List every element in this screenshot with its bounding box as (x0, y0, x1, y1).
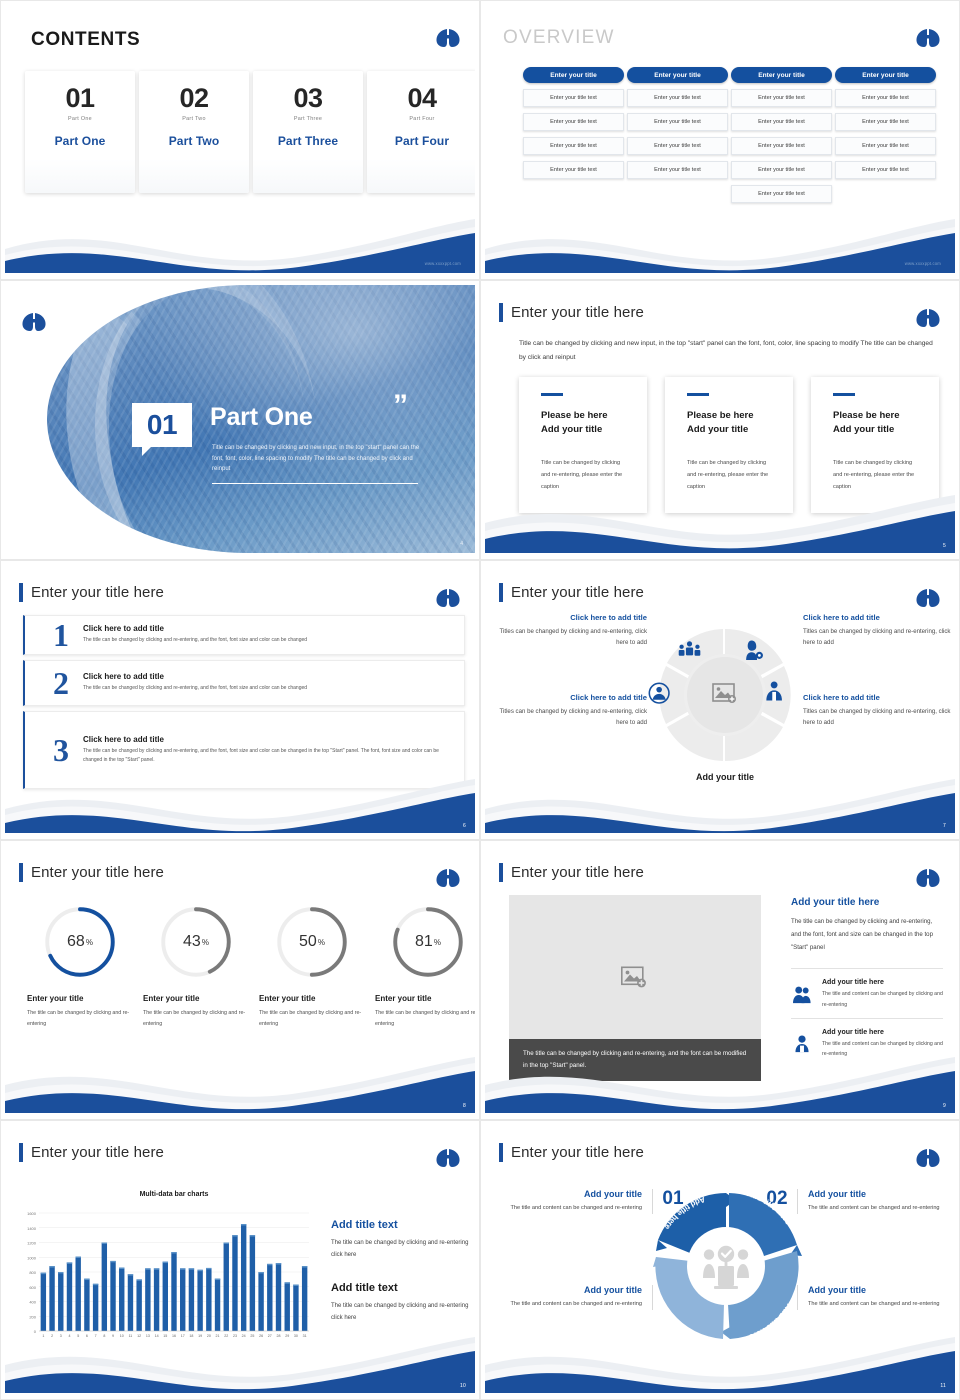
svg-text:31: 31 (303, 1334, 307, 1338)
brand-logo-icon (435, 1147, 461, 1169)
page-number: 9 (943, 1103, 946, 1109)
card-subtitle: Part Three (253, 116, 363, 122)
card-number: 04 (367, 85, 475, 112)
brand-logo-icon (915, 867, 941, 889)
card-number: 03 (253, 85, 363, 112)
page-number: 6 (463, 823, 466, 829)
column-header-pill[interactable]: Enter your title (627, 67, 728, 83)
page-number: 7 (943, 823, 946, 829)
donut-value: 81 (415, 933, 433, 951)
block-heading: Click here to add title (497, 693, 647, 702)
contents-card[interactable]: 02 Part Two Part Two (139, 71, 249, 193)
donut-stat[interactable]: 50% Enter your title The title can be ch… (259, 903, 365, 1029)
item-body: The title and content can be changed by … (822, 1039, 943, 1059)
list-item[interactable]: Add your title here The title and conten… (791, 1019, 943, 1067)
card-accent-bar (687, 393, 709, 396)
block-body: Titles can be changed by clicking and re… (803, 626, 953, 649)
donut-heading: Enter your title (143, 994, 249, 1003)
svg-text:16: 16 (172, 1334, 176, 1338)
slide-section-part-one: 01 Part One ” Title can be changed by cl… (0, 280, 480, 560)
block-body: Titles can be changed by clicking and re… (497, 706, 647, 729)
item-heading: Add your title here (822, 979, 943, 986)
svg-text:25: 25 (250, 1334, 254, 1338)
block-body: The title and content can be changed and… (507, 1203, 642, 1214)
side-body: The title can be changed by clicking and… (791, 916, 943, 954)
donut-unit: % (86, 938, 93, 947)
overview-cell[interactable]: Enter your title text (731, 113, 832, 131)
page-title: Enter your title here (31, 864, 164, 881)
svg-text:7: 7 (95, 1334, 97, 1338)
brand-logo-icon (435, 867, 461, 889)
page-number: 5 (943, 543, 946, 549)
page-title: Enter your title here (31, 1144, 164, 1161)
svg-text:800: 800 (29, 1270, 36, 1275)
item-body: The title can be changed by clicking and… (83, 747, 454, 766)
brand-logo-icon (435, 27, 461, 49)
item-heading: Click here to add title (83, 672, 454, 681)
side-content: Add your title here The title can be cha… (791, 897, 943, 1067)
section-body-text: Title can be changed by clicking and new… (212, 443, 420, 475)
list-item[interactable]: Add your title here The title and conten… (791, 969, 943, 1018)
svg-text:13: 13 (146, 1334, 150, 1338)
svg-text:400: 400 (29, 1300, 36, 1305)
svg-text:1600: 1600 (27, 1211, 37, 1216)
svg-text:29: 29 (285, 1334, 289, 1338)
block-body: The title and content can be changed and… (507, 1299, 642, 1310)
card-number: 01 (25, 85, 135, 112)
item-number: 3 (39, 734, 83, 766)
overview-cell[interactable]: Enter your title text (731, 137, 832, 155)
svg-text:17: 17 (181, 1334, 185, 1338)
item-body: The title can be changed by clicking and… (83, 636, 454, 646)
overview-column: Enter your title Enter your title text E… (835, 67, 936, 203)
overview-cell[interactable]: Enter your title text (627, 113, 728, 131)
overview-cell[interactable]: Enter your title text (731, 161, 832, 179)
contents-card-list: 01 Part One Part One 02 Part Two Part Tw… (25, 71, 475, 193)
svg-text:8: 8 (103, 1334, 105, 1338)
svg-text:20: 20 (207, 1334, 211, 1338)
brand-logo-icon (915, 587, 941, 609)
block-heading: Click here to add title (803, 693, 953, 702)
overview-cell[interactable]: Enter your title text (731, 185, 832, 203)
card-label: Part Two (139, 134, 249, 148)
slide-contents: CONTENTS 01 Part One Part One 02 Part Tw… (0, 0, 480, 280)
card-label: Part Three (253, 134, 363, 148)
block-heading: Add your title (808, 1285, 943, 1295)
title-accent-bar (499, 303, 503, 322)
donut-value: 43 (183, 933, 201, 951)
slide-donut-stats: Enter your title here 68% Enter your tit… (0, 840, 480, 1120)
brand-logo-icon (21, 311, 47, 333)
segmented-ring (640, 615, 810, 775)
overview-cell[interactable]: Enter your title text (835, 137, 936, 155)
svg-text:22: 22 (224, 1334, 228, 1338)
svg-text:1000: 1000 (27, 1255, 37, 1260)
page-title-bar: Enter your title here (499, 583, 644, 602)
svg-text:9: 9 (112, 1334, 114, 1338)
title-accent-bar (499, 1143, 503, 1162)
footer-watermark: www.xxxxppt.com (905, 261, 941, 266)
brand-logo-icon (915, 307, 941, 329)
card-number: 02 (139, 85, 249, 112)
content-card[interactable]: Please be here Add your title Title can … (519, 377, 647, 513)
block-body: Titles can be changed by clicking and re… (497, 626, 647, 649)
svg-text:23: 23 (233, 1334, 237, 1338)
block-body: The title and content can be changed and… (808, 1203, 943, 1214)
item-heading: Click here to add title (83, 624, 454, 633)
title-accent-bar (19, 863, 23, 882)
column-header-pill[interactable]: Enter your title (523, 67, 624, 83)
svg-text:27: 27 (268, 1334, 272, 1338)
note-body: The title can be changed by clicking and… (331, 1237, 471, 1262)
page-title: Enter your title here (511, 864, 644, 881)
contents-card[interactable]: 04 Part Four Part Four (367, 71, 475, 193)
card-subtitle: Part Two (139, 116, 249, 122)
overview-cell[interactable]: Enter your title text (835, 161, 936, 179)
svg-text:1400: 1400 (27, 1226, 37, 1231)
lead-paragraph: Title can be changed by clicking and new… (519, 337, 937, 365)
chart-side-notes: Add title text The title can be changed … (331, 1219, 471, 1324)
image-placeholder[interactable]: The title can be changed by clicking and… (509, 895, 761, 1081)
list-item[interactable]: 1 Click here to add title The title can … (23, 615, 465, 655)
svg-text:30: 30 (294, 1334, 298, 1338)
card-body: Title can be changed by clicking and re-… (687, 458, 771, 493)
donut-body: The title can be changed by clicking and… (375, 1008, 475, 1029)
svg-text:2: 2 (51, 1334, 53, 1338)
donut-stat[interactable]: 68% Enter your title The title can be ch… (27, 903, 133, 1029)
brand-logo-icon (915, 27, 941, 49)
slide-bar-chart: Enter your title here Multi-data bar cha… (0, 1120, 480, 1400)
note-heading: Add title text (331, 1282, 471, 1294)
overview-column: Enter your title Enter your title text E… (523, 67, 624, 203)
page-title-bar: Enter your title here (19, 583, 164, 602)
donut-ring: 81% (389, 903, 467, 981)
svg-text:1: 1 (42, 1334, 44, 1338)
donut-stat[interactable]: 43% Enter your title The title can be ch… (143, 903, 249, 1029)
slide-numbered-list: Enter your title here 1 Click here to ad… (0, 560, 480, 840)
card-heading: Please be here Add your title (833, 409, 917, 438)
overview-cell[interactable]: Enter your title text (835, 113, 936, 131)
donut-body: The title can be changed by clicking and… (143, 1008, 249, 1029)
page-title: Enter your title here (31, 584, 164, 601)
column-header-pill[interactable]: Enter your title (731, 67, 832, 83)
card-heading: Please be here Add your title (541, 409, 625, 438)
item-number: 2 (39, 667, 83, 699)
svg-text:12: 12 (137, 1334, 141, 1338)
donut-row: 68% Enter your title The title can be ch… (27, 903, 475, 1029)
item-number: 1 (39, 619, 83, 651)
donut-value: 50 (299, 933, 317, 951)
section-number: 01 (147, 409, 177, 441)
svg-text:200: 200 (29, 1314, 36, 1319)
slide-image-list: Enter your title here The title can (480, 840, 960, 1120)
item-heading: Click here to add title (83, 735, 454, 744)
svg-text:1200: 1200 (27, 1241, 37, 1246)
page-title-bar: Enter your title here (499, 303, 644, 322)
footer-wave (485, 209, 955, 273)
card-body: Title can be changed by clicking and re-… (833, 458, 917, 493)
svg-text:21: 21 (216, 1334, 220, 1338)
donut-unit: % (202, 938, 209, 947)
title-accent-bar (19, 583, 23, 602)
list-item[interactable]: 2 Click here to add title The title can … (23, 660, 465, 706)
card-subtitle: Part One (25, 116, 135, 122)
donut-ring: 68% (41, 903, 119, 981)
svg-text:4: 4 (68, 1334, 70, 1338)
page-number: 4 (460, 541, 463, 547)
diagram-caption: Add your title (640, 772, 810, 782)
svg-text:0: 0 (34, 1329, 37, 1334)
svg-text:18: 18 (189, 1334, 193, 1338)
block-heading: Add your title (808, 1189, 943, 1199)
block-heading: Add your title (507, 1189, 642, 1199)
brand-logo-icon (435, 587, 461, 609)
svg-text:26: 26 (259, 1334, 263, 1338)
title-accent-bar (19, 1143, 23, 1162)
page-title-bar: Enter your title here (19, 1143, 164, 1162)
footer-wave (5, 209, 475, 273)
donut-ring: 43% (157, 903, 235, 981)
page-title-bar: Enter your title here (19, 863, 164, 882)
svg-text:28: 28 (277, 1334, 281, 1338)
note-heading: Add title text (331, 1219, 471, 1231)
page-title: Enter your title here (511, 304, 644, 321)
overview-cell[interactable]: Enter your title text (523, 113, 624, 131)
item-body: The title can be changed by clicking and… (83, 684, 454, 694)
overview-cell[interactable]: Enter your title text (627, 89, 728, 107)
numbered-list: 1 Click here to add title The title can … (23, 615, 465, 789)
item-heading: Add your title here (822, 1029, 943, 1036)
svg-text:14: 14 (155, 1334, 159, 1338)
svg-text:19: 19 (198, 1334, 202, 1338)
overview-column: Enter your title Enter your title text E… (731, 67, 832, 203)
contents-card[interactable]: 03 Part Three Part Three (253, 71, 363, 193)
two-people-icon (791, 979, 813, 1009)
svg-text:600: 600 (29, 1285, 36, 1290)
svg-text:15: 15 (163, 1334, 167, 1338)
donut-ring: 50% (273, 903, 351, 981)
image-caption: The title can be changed by clicking and… (509, 1039, 761, 1081)
donut-heading: Enter your title (259, 994, 365, 1003)
page-title: OVERVIEW (503, 27, 615, 49)
title-accent-bar (499, 863, 503, 882)
page-title-bar: Enter your title here (499, 1143, 644, 1162)
card-label: Part Four (367, 134, 475, 148)
page-number: 10 (460, 1383, 466, 1389)
item-body: The title and content can be changed by … (822, 989, 943, 1009)
donut-heading: Enter your title (375, 994, 475, 1003)
diagram-block-1[interactable]: Click here to add title Titles can be ch… (497, 613, 647, 649)
footer-watermark: www.xxxxppt.com (425, 261, 461, 266)
svg-text:24: 24 (242, 1334, 246, 1338)
contents-card[interactable]: 01 Part One Part One (25, 71, 135, 193)
diagram-block-2[interactable]: Click here to add title Titles can be ch… (803, 613, 953, 649)
svg-text:11: 11 (129, 1334, 133, 1338)
slide-three-cards: Enter your title here Title can be chang… (480, 280, 960, 560)
block-body: Titles can be changed by clicking and re… (803, 706, 953, 729)
list-item[interactable]: 3 Click here to add title The title can … (23, 711, 465, 789)
page-title: Enter your title here (511, 584, 644, 601)
block-body: The title and content can be changed and… (808, 1299, 943, 1310)
block-heading: Click here to add title (803, 613, 953, 622)
cycle-wheel-diagram: Add title here Add title here Add title … (640, 1177, 812, 1355)
card-accent-bar (833, 393, 855, 396)
overview-cell[interactable]: Enter your title text (523, 161, 624, 179)
donut-body: The title can be changed by clicking and… (27, 1008, 133, 1029)
donut-value: 68 (67, 933, 85, 951)
image-placeholder-icon (621, 966, 649, 995)
block-heading: Add your title (507, 1285, 642, 1295)
title-accent-bar (499, 583, 503, 602)
overview-column: Enter your title Enter your title text E… (627, 67, 728, 203)
page-title: CONTENTS (31, 29, 140, 51)
circle-diagram-wrap: Click here to add title Titles can be ch… (485, 609, 955, 799)
donut-unit: % (434, 938, 441, 947)
slide-deck: CONTENTS 01 Part One Part One 02 Part Tw… (0, 0, 960, 1400)
diagram-block-3[interactable]: Click here to add title Titles can be ch… (497, 693, 647, 729)
content-card[interactable]: Please be here Add your title Title can … (665, 377, 793, 513)
section-heading: Part One (210, 403, 313, 432)
side-heading: Add your title here (791, 897, 943, 908)
page-number: 11 (940, 1383, 946, 1389)
overview-grid: Enter your title Enter your title text E… (523, 67, 936, 203)
card-heading: Please be here Add your title (687, 409, 771, 438)
page-number: 8 (463, 1103, 466, 1109)
svg-text:3: 3 (60, 1334, 62, 1338)
donut-unit: % (318, 938, 325, 947)
person-icon (791, 1029, 813, 1059)
svg-text:6: 6 (86, 1334, 88, 1338)
brand-logo-icon (915, 1147, 941, 1169)
card-row: Please be here Add your title Title can … (519, 377, 939, 513)
overview-cell[interactable]: Enter your title text (523, 89, 624, 107)
card-body: Title can be changed by clicking and re-… (541, 458, 625, 493)
svg-text:5: 5 (77, 1334, 79, 1338)
quote-mark-icon: ” (393, 397, 408, 415)
overview-cell[interactable]: Enter your title text (627, 137, 728, 155)
donut-heading: Enter your title (27, 994, 133, 1003)
svg-text:10: 10 (120, 1334, 124, 1338)
card-subtitle: Part Four (367, 116, 475, 122)
section-number-badge: 01 (132, 403, 192, 447)
donut-stat[interactable]: 81% Enter your title The title can be ch… (375, 903, 475, 1029)
donut-body: The title can be changed by clicking and… (259, 1008, 365, 1029)
page-title-bar: Enter your title here (499, 863, 644, 882)
overview-cell[interactable]: Enter your title text (523, 137, 624, 155)
card-accent-bar (541, 393, 563, 396)
diagram-block-4[interactable]: Click here to add title Titles can be ch… (803, 693, 953, 729)
content-card[interactable]: Please be here Add your title Title can … (811, 377, 939, 513)
note-body: The title can be changed by clicking and… (331, 1300, 471, 1325)
page-title: Enter your title here (511, 1144, 644, 1161)
slide-circle-diagram: Enter your title here Click here to add … (480, 560, 960, 840)
chart-title: Multi-data bar charts (39, 1191, 309, 1198)
bar-chart: 0200400600800100012001400160012345678910… (17, 1207, 313, 1347)
overview-cell[interactable]: Enter your title text (835, 89, 936, 107)
slide-overview: OVERVIEW Enter your title Enter your tit… (480, 0, 960, 280)
slide-cycle-wheel: Enter your title here Add your title The… (480, 1120, 960, 1400)
column-header-pill[interactable]: Enter your title (835, 67, 936, 83)
card-label: Part One (25, 134, 135, 148)
overview-cell[interactable]: Enter your title text (731, 89, 832, 107)
overview-cell[interactable]: Enter your title text (627, 161, 728, 179)
divider-rule (212, 483, 418, 484)
footer-wave (5, 1049, 475, 1113)
block-heading: Click here to add title (497, 613, 647, 622)
